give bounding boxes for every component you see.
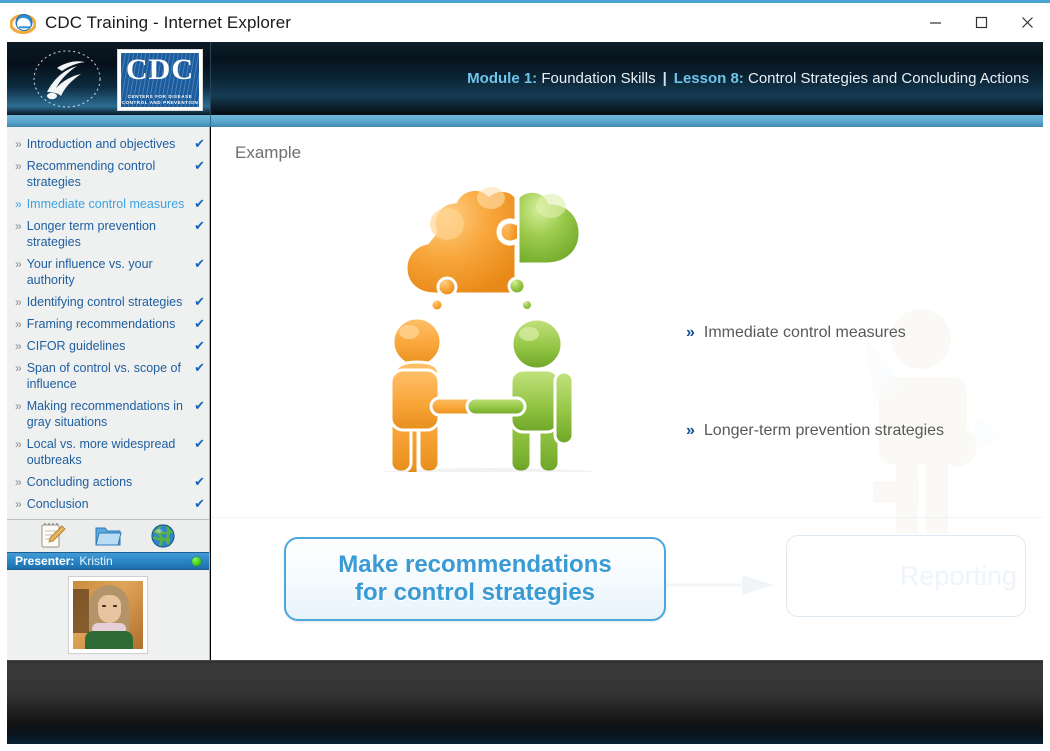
window-title: CDC Training - Internet Explorer [45,13,291,33]
sidebar-item-concluding-actions[interactable]: »Concluding actions✔ [7,471,209,493]
presenter-name: Kristin [79,554,112,568]
bullet-text: Immediate control measures [704,322,906,344]
sidebar-item-label: Longer term prevention strategies [27,218,191,250]
sidebar-item-local-vs-more-widespread-outbreaks[interactable]: »Local vs. more widespread outbreaks✔ [7,433,209,471]
player-toolbar: ? CC [7,660,1043,744]
banner-logo-area: CDC CENTERS FOR DISEASE CONTROL AND PREV… [7,42,211,115]
lesson-name: Control Strategies and Concluding Action… [748,70,1029,87]
check-icon: ✔ [191,158,205,174]
sidebar-item-label: Immediate control measures [27,196,191,212]
chevron-right-icon: » [15,398,22,414]
hhs-seal-logo [21,48,113,110]
lesson-label: Lesson 8: [674,70,744,87]
chevron-right-icon: » [15,136,22,152]
check-icon: ✔ [191,316,205,332]
check-icon: ✔ [191,256,205,272]
chevron-right-icon: » [15,496,22,512]
minimize-button[interactable] [912,3,958,42]
sidebar-item-framing-recommendations[interactable]: »Framing recommendations✔ [7,313,209,335]
breadcrumb-separator: | [663,70,667,87]
maximize-button[interactable] [958,3,1004,42]
folder-icon[interactable] [93,522,123,550]
presenter-photo [69,577,147,653]
globe-icon[interactable] [148,522,178,550]
check-icon: ✔ [191,474,205,490]
presenter-bar: Presenter: Kristin [7,552,209,570]
module-name: Foundation Skills [541,70,655,87]
check-icon: ✔ [191,496,205,512]
ghost-reporting-box: Reporting [786,535,1026,617]
slide-title: Example [235,143,301,163]
sidebar-item-label: Span of control vs. scope of influence [27,360,191,392]
check-icon: ✔ [191,338,205,354]
sidebar-item-making-recommendations-in-gray-situations[interactable]: »Making recommendations in gray situatio… [7,395,209,433]
chevron-right-icon: » [15,158,22,174]
notepad-pencil-icon[interactable] [38,522,68,550]
slide-stage: Example Reporting [211,127,1043,660]
close-button[interactable] [1004,3,1050,42]
chevron-right-icon: » [15,196,22,212]
chevron-right-icon: » [15,360,22,376]
check-icon: ✔ [191,136,205,152]
slide-bullet-list: »Immediate control measures»Longer-term … [686,322,1031,518]
internet-explorer-icon [10,10,36,36]
cdc-logo-text: CDC [118,54,202,86]
check-icon: ✔ [191,360,205,376]
presenter-photo-area [7,570,209,660]
chevron-right-icon: » [15,256,22,272]
slide-bullet: »Immediate control measures [686,322,1031,344]
slide-bullet: »Longer-term prevention strategies [686,420,1031,442]
callout-line-2: for control strategies [355,579,595,606]
two-people-puzzle-thought-bubble-illustration [339,172,629,472]
lesson-nav-list: »Introduction and objectives✔»Recommendi… [7,127,209,519]
check-icon: ✔ [191,398,205,414]
bullet-text: Longer-term prevention strategies [704,420,944,442]
sidebar-item-label: Your influence vs. your authority [27,256,191,288]
sidebar-item-recommending-control-strategies[interactable]: »Recommending control strategies✔ [7,155,209,193]
sidebar-item-label: Conclusion [27,496,191,512]
window-controls [912,3,1050,42]
callout-box: Make recommendations for control strateg… [284,537,666,621]
sidebar-item-identifying-control-strategies[interactable]: »Identifying control strategies✔ [7,291,209,313]
online-status-dot [192,557,201,566]
sidebar-item-label: Identifying control strategies [27,294,191,310]
banner-accent-strip [7,115,1043,127]
course-breadcrumb: Module 1: Foundation Skills | Lesson 8: … [467,42,1029,115]
sidebar-item-your-influence-vs-your-authority[interactable]: »Your influence vs. your authority✔ [7,253,209,291]
lesson-sidebar: »Introduction and objectives✔»Recommendi… [7,127,210,660]
bullet-chevron-icon: » [686,420,695,442]
sidebar-item-label: CIFOR guidelines [27,338,191,354]
cdc-logo: CDC CENTERS FOR DISEASE CONTROL AND PREV… [117,49,203,111]
sidebar-item-cifor-guidelines[interactable]: »CIFOR guidelines✔ [7,335,209,357]
sidebar-item-introduction-and-objectives[interactable]: »Introduction and objectives✔ [7,133,209,155]
sidebar-item-label: Framing recommendations [27,316,191,332]
module-label: Module 1: [467,70,537,87]
check-icon: ✔ [191,196,205,212]
chevron-right-icon: » [15,338,22,354]
sidebar-item-label: Concluding actions [27,474,191,490]
sidebar-item-immediate-control-measures[interactable]: »Immediate control measures✔ [7,193,209,215]
sidebar-item-span-of-control-vs-scope-of-influence[interactable]: »Span of control vs. scope of influence✔ [7,357,209,395]
check-icon: ✔ [191,218,205,234]
training-application: CDC CENTERS FOR DISEASE CONTROL AND PREV… [7,42,1043,744]
chevron-right-icon: » [15,316,22,332]
course-banner: CDC CENTERS FOR DISEASE CONTROL AND PREV… [7,42,1043,115]
check-icon: ✔ [191,436,205,452]
presenter-label: Presenter: [15,554,74,568]
cdc-logo-subtext: CENTERS FOR DISEASE CONTROL AND PREVENTI… [118,94,202,106]
callout-line-1: Make recommendations [338,551,611,578]
sidebar-item-label: Introduction and objectives [27,136,191,152]
bullet-chevron-icon: » [686,322,695,344]
sidebar-item-label: Recommending control strategies [27,158,191,190]
sidebar-item-label: Making recommendations in gray situation… [27,398,191,430]
chevron-right-icon: » [15,218,22,234]
ie-browser-window: CDC Training - Internet Explorer [0,0,1050,751]
sidebar-item-conclusion[interactable]: »Conclusion✔ [7,493,209,515]
chevron-right-icon: » [15,294,22,310]
ghost-arrow-icon [666,572,776,598]
sidebar-tool-row [7,519,209,552]
title-bar: CDC Training - Internet Explorer [0,0,1050,42]
sidebar-item-label: Local vs. more widespread outbreaks [27,436,191,468]
chevron-right-icon: » [15,436,22,452]
chevron-right-icon: » [15,474,22,490]
sidebar-item-longer-term-prevention-strategies[interactable]: »Longer term prevention strategies✔ [7,215,209,253]
check-icon: ✔ [191,294,205,310]
watermark-text: Reporting [900,561,1017,592]
main-content: »Introduction and objectives✔»Recommendi… [7,127,1043,660]
